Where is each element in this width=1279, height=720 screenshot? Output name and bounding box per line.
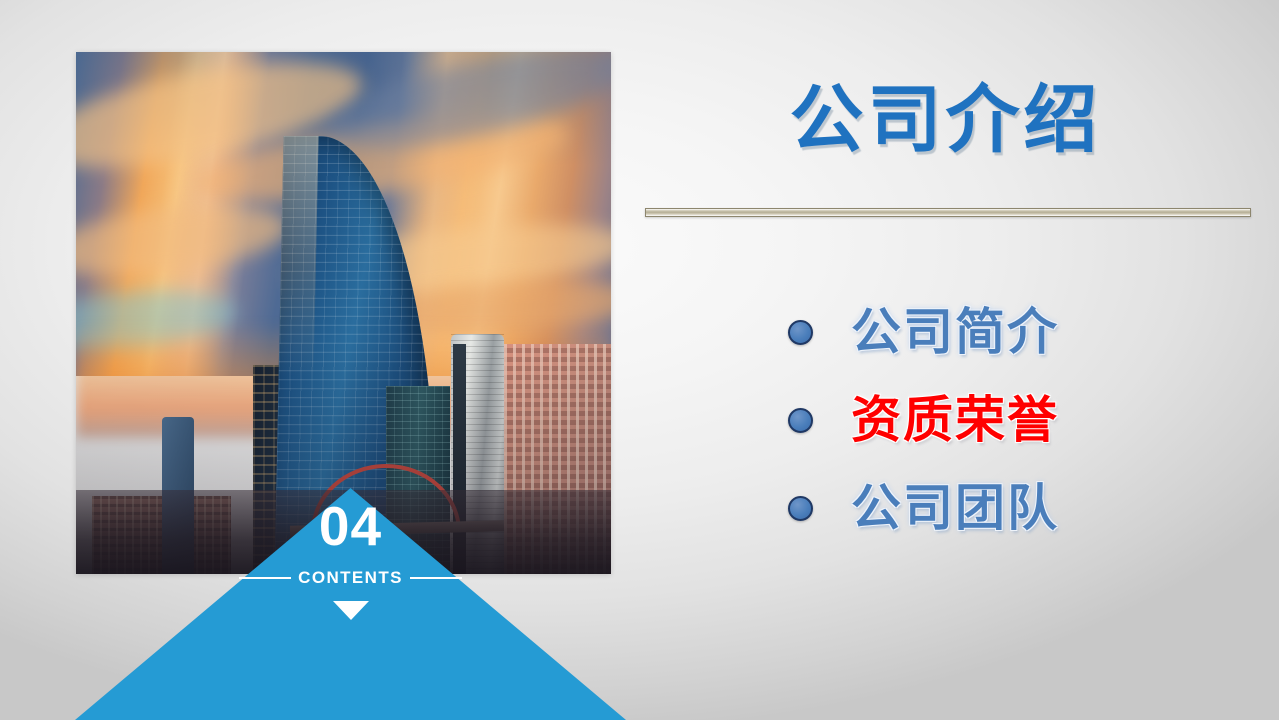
street-level	[76, 490, 611, 574]
city-skyline-image	[76, 52, 611, 574]
bullet-dot-icon	[788, 408, 813, 433]
down-triangle-icon	[333, 601, 369, 620]
list-item[interactable]: 公司简介	[788, 288, 1059, 376]
agenda-item-label: 公司团队	[851, 483, 1059, 533]
list-item[interactable]: 资质荣誉	[788, 376, 1059, 464]
rule-left	[239, 577, 291, 579]
list-item[interactable]: 公司团队	[788, 464, 1059, 552]
title-divider	[645, 208, 1251, 217]
cover-photo	[76, 52, 611, 574]
presentation-slide: 04 CONTENTS 公司介绍 公司简介 资质荣誉 公司团队	[0, 0, 1279, 720]
agenda-item-label-active: 资质荣誉	[851, 395, 1059, 445]
page-title: 公司介绍	[640, 82, 1251, 160]
bullet-dot-icon	[788, 320, 813, 345]
rule-right	[410, 577, 462, 579]
bullet-dot-icon	[788, 496, 813, 521]
right-panel: 公司介绍 公司简介 资质荣誉 公司团队	[640, 0, 1279, 720]
agenda-item-label: 公司简介	[851, 307, 1059, 357]
agenda-list: 公司简介 资质荣誉 公司团队	[788, 288, 1059, 552]
